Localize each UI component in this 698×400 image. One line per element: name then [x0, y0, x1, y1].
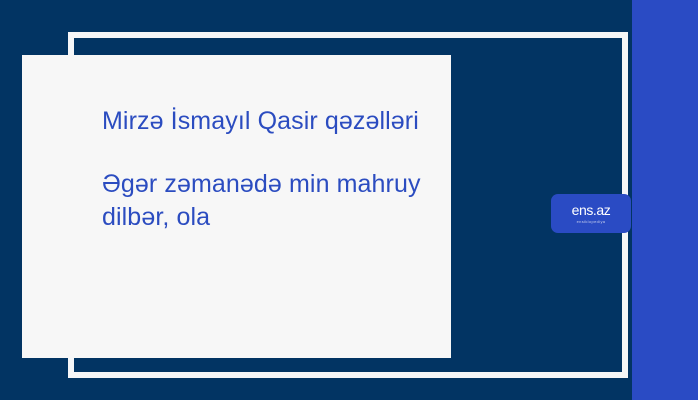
page-title: Mirzə İsmayıl Qasir qəzəlləri	[102, 105, 432, 138]
headline-block: Mirzə İsmayıl Qasir qəzəlləri Əgər zəman…	[102, 105, 432, 234]
logo-wordmark: ens.az	[572, 203, 611, 217]
page-subtitle: Əgər zəmanədə min mahruy dilbər, ola	[102, 168, 432, 234]
logo-subtitle: ensiklopediya	[577, 220, 606, 224]
ensaz-logo-badge[interactable]: ens.az ensiklopediya	[551, 194, 631, 233]
social-card-canvas: Mirzə İsmayıl Qasir qəzəlləri Əgər zəman…	[0, 0, 698, 400]
accent-panel	[632, 0, 698, 400]
